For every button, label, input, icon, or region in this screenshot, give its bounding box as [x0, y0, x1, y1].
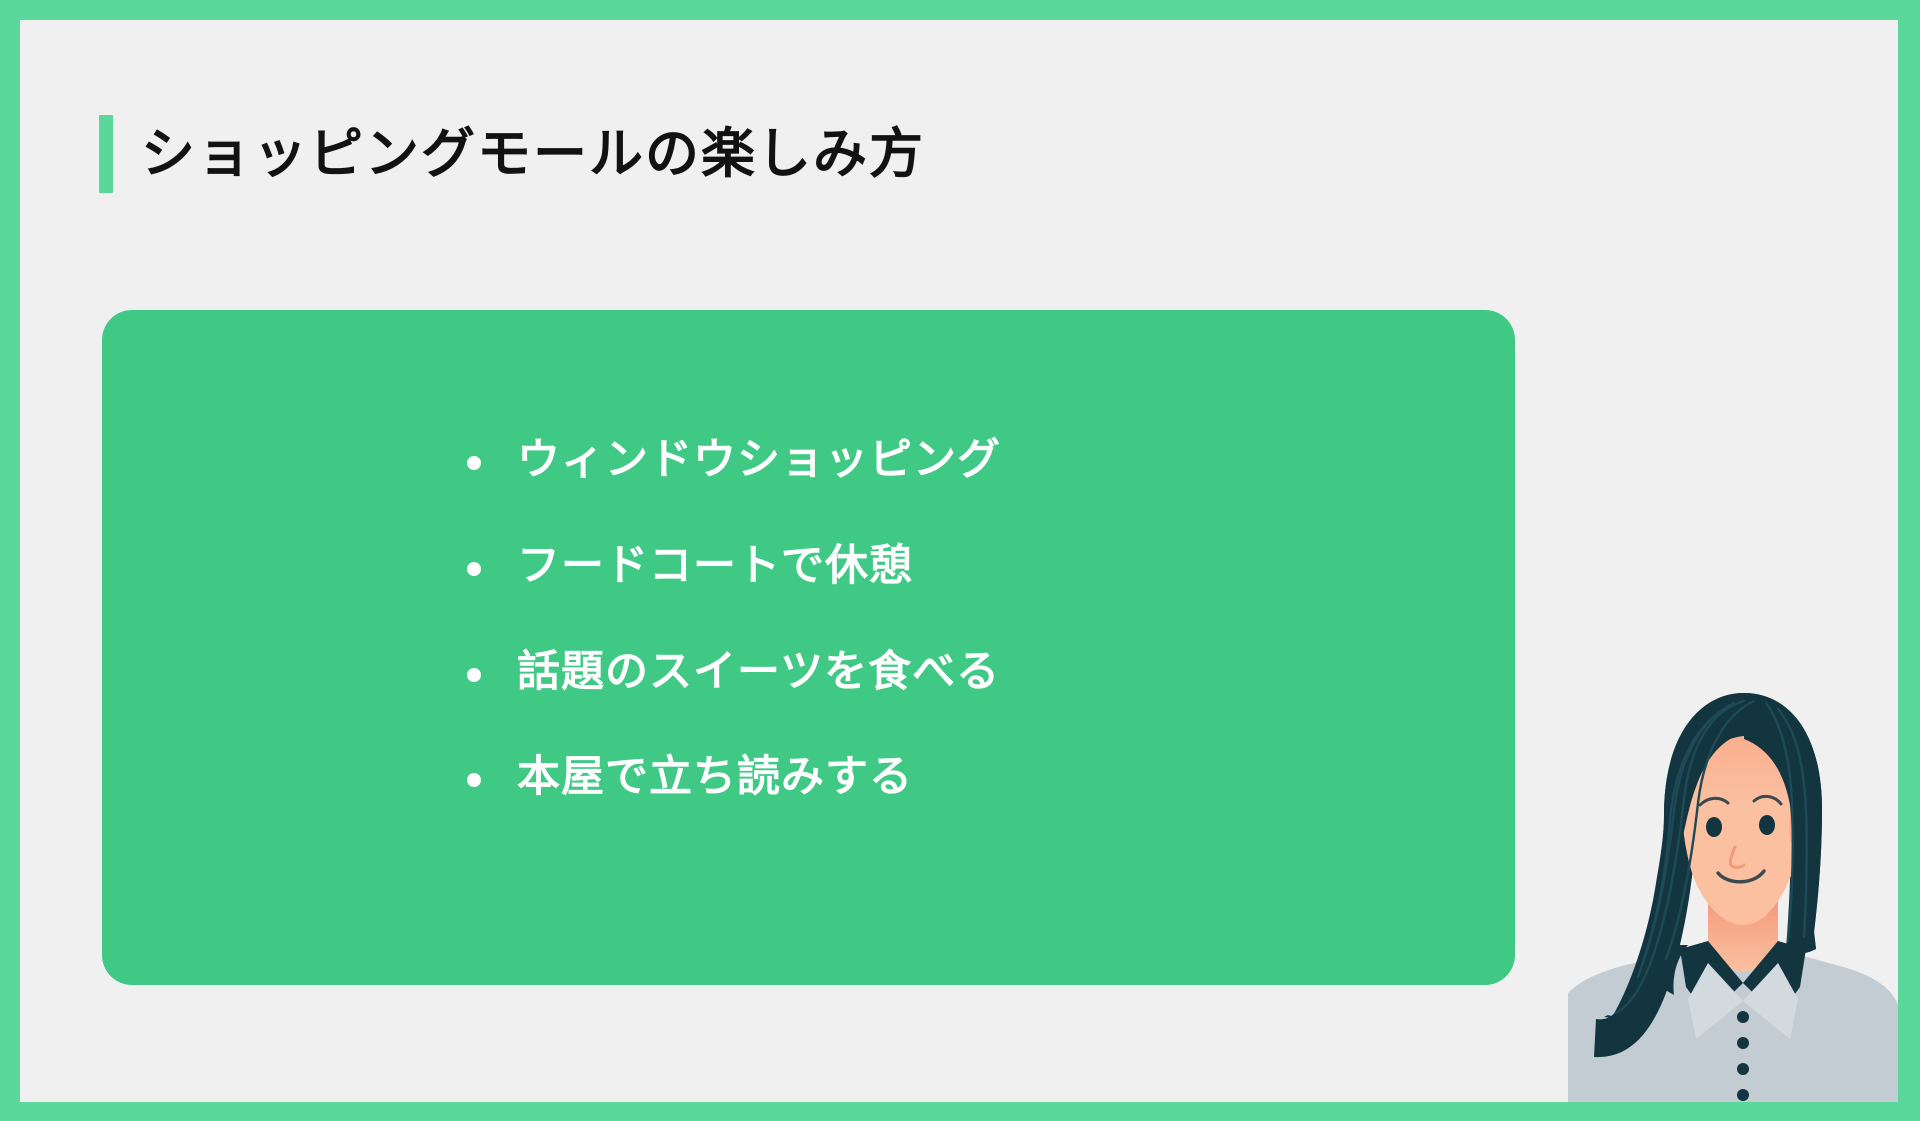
mouth-shape [1718, 871, 1764, 882]
bullet-list: ウィンドウショッピング フードコートで休憩 話題のスイーツを食べる 本屋で立ち読… [467, 434, 1001, 805]
slide-canvas: ショッピングモールの楽しみ方 ウィンドウショッピング フードコートで休憩 話題の… [20, 20, 1898, 1102]
eyebrow-shapes [1700, 796, 1781, 805]
page-title: ショッピングモールの楽しみ方 [141, 127, 925, 181]
collar-shape [1660, 941, 1806, 1017]
bullet-dot-icon [467, 668, 481, 682]
bullet-dot-icon [467, 562, 481, 576]
list-item: フードコートで休憩 [467, 540, 1001, 594]
bullet-dot-icon [467, 773, 481, 787]
shirt-collar-shape [1688, 963, 1798, 1039]
ear-shape [1790, 796, 1817, 847]
list-item: ウィンドウショッピング [467, 434, 1001, 488]
character-illustration [1568, 687, 1898, 1102]
eye-shapes [1706, 815, 1775, 837]
hair-back-shape [1604, 693, 1822, 1019]
nose-shape [1730, 847, 1744, 867]
shirt-shape [1568, 949, 1898, 1102]
title-accent-bar [99, 115, 113, 193]
bullet-item-label: ウィンドウショッピング [517, 434, 1001, 488]
neck-shape [1708, 883, 1778, 971]
bullet-item-label: フードコートで休憩 [517, 540, 913, 594]
list-item: 本屋で立ち読みする [467, 751, 1001, 805]
page-title-row: ショッピングモールの楽しみ方 [99, 115, 925, 193]
hair-front-shape [1658, 693, 1822, 954]
bullet-item-label: 本屋で立ち読みする [517, 751, 913, 805]
bullet-dot-icon [467, 456, 481, 470]
face-shape [1680, 703, 1806, 925]
hair-left-strand-shape [1594, 799, 1698, 1057]
list-item: 話題のスイーツを食べる [467, 646, 1001, 700]
shirt-button-icons [1737, 1011, 1749, 1101]
bullet-item-label: 話題のスイーツを食べる [517, 646, 1000, 700]
hair-highlight-lines [1616, 701, 1807, 1013]
content-card: ウィンドウショッピング フードコートで休憩 話題のスイーツを食べる 本屋で立ち読… [102, 310, 1515, 985]
slide-root: ショッピングモールの楽しみ方 ウィンドウショッピング フードコートで休憩 話題の… [0, 0, 1920, 1121]
